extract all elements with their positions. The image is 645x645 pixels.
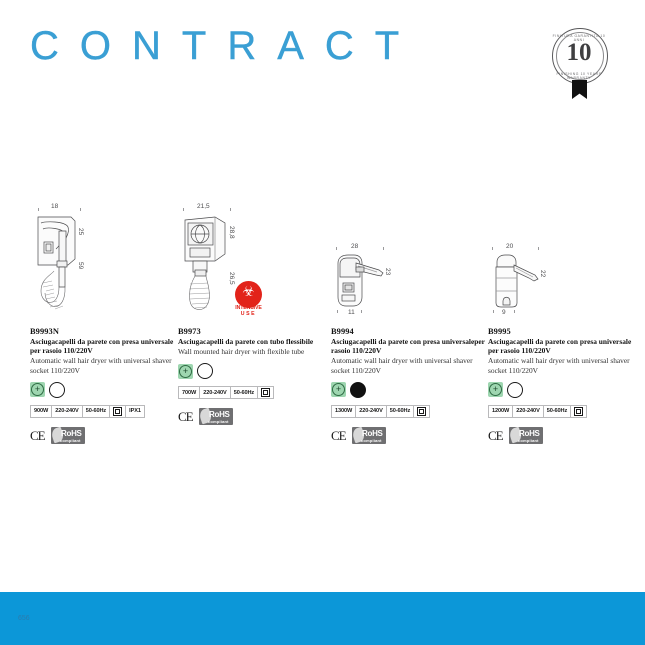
plus-icon: + [332, 383, 345, 396]
ribbon-icon [572, 80, 587, 99]
seal-number: 10 [548, 40, 610, 65]
add-option-button[interactable]: + [30, 382, 45, 397]
rohs-subtitle: compliant [60, 438, 81, 443]
certification-marks: CE RoHS compliant [30, 427, 180, 447]
spec-frequency: 50-60Hz [83, 406, 110, 417]
product-description-it: Asciugacapelli da parete con tubo flessi… [178, 337, 328, 346]
dimension-depth: 9 [502, 309, 506, 316]
rohs-title: RoHS [362, 429, 383, 438]
rohs-title: RoHS [519, 429, 540, 438]
hair-dryer-sketch [35, 213, 83, 323]
plus-icon: + [179, 365, 192, 378]
product-description-it: Asciugacapelli da parete con presa unive… [488, 337, 638, 355]
spec-frequency: 50-60Hz [544, 406, 571, 417]
product-code: B9993N [30, 327, 180, 336]
spec-power: 1200W [489, 406, 513, 417]
spec-power: 900W [31, 406, 52, 417]
spec-voltage: 220-240V [52, 406, 82, 417]
spec-bar: 1200W 220-240V 50-60Hz [488, 405, 587, 418]
spec-power: 1300W [332, 406, 356, 417]
add-option-button[interactable]: + [178, 364, 193, 379]
dimension-depth: 11 [348, 309, 355, 316]
catalog-page: CONTRACT FINITURA GARANTITA 10 ANNI 10 F… [0, 0, 645, 645]
color-swatch-white[interactable] [197, 363, 213, 379]
spec-ip-rating: IPX1 [126, 406, 144, 417]
rohs-title: RoHS [209, 410, 230, 419]
rohs-subtitle: compliant [208, 419, 229, 424]
intensive-use-circle: ☣ [235, 281, 262, 308]
spec-voltage: 220-240V [513, 406, 543, 417]
product-description-en: Wall mounted hair dryer with flexible tu… [178, 347, 328, 356]
hair-dryer-sketch [334, 253, 388, 309]
product-description-en: Automatic wall hair dryer with universal… [331, 356, 486, 374]
intensive-use-label-2: USE [232, 311, 265, 317]
spec-frequency: 50-60Hz [387, 406, 414, 417]
class-2-icon [571, 406, 586, 417]
class-2-icon [258, 387, 273, 398]
dimension-width: 20 [506, 243, 513, 250]
product-description-en: Automatic wall hair dryer with universal… [30, 356, 180, 374]
product-description-it: Asciugacapelli da parete con presa unive… [30, 337, 180, 355]
product-card: 18 25 59 [30, 200, 180, 447]
page-number: 656 [18, 615, 30, 622]
rohs-subtitle: compliant [518, 438, 539, 443]
color-options: + [178, 363, 328, 379]
dimension-width: 18 [51, 203, 58, 210]
color-swatch-white[interactable] [49, 382, 65, 398]
hand-tool-icon: ☣ [235, 284, 262, 298]
dimension-width: 28 [351, 243, 358, 250]
certification-marks: CE RoHS compliant [178, 408, 328, 428]
plus-icon: + [489, 383, 502, 396]
color-options: + [488, 382, 638, 398]
hair-dryer-sketch [491, 253, 543, 309]
product-drawing: 18 25 59 [30, 200, 180, 325]
rohs-subtitle: compliant [361, 438, 382, 443]
ce-mark-icon: CE [488, 428, 503, 444]
product-description-en: Automatic wall hair dryer with universal… [488, 356, 638, 374]
rohs-badge-icon: RoHS compliant [199, 408, 233, 425]
rohs-badge-icon: RoHS compliant [51, 427, 85, 444]
page-title: CONTRACT [30, 26, 420, 66]
color-swatch-white[interactable] [507, 382, 523, 398]
spec-bar: 1300W 220-240V 50-60Hz [331, 405, 430, 418]
product-description-it: Asciugacapelli da parete con presa unive… [331, 337, 486, 355]
class-2-icon [414, 406, 429, 417]
certification-marks: CE RoHS compliant [488, 427, 638, 447]
product-card: 28 23 11 B9994 Asciugacapelli da parete [331, 200, 486, 447]
spec-voltage: 220-240V [356, 406, 386, 417]
product-card: 20 22 9 B9995 Asciugacapelli da parete c… [488, 200, 638, 447]
product-code: B9973 [178, 327, 328, 336]
spec-power: 700W [179, 387, 200, 398]
class-2-icon [110, 406, 126, 417]
rohs-title: RoHS [61, 429, 82, 438]
product-code: B9994 [331, 327, 486, 336]
color-swatch-black[interactable] [350, 382, 366, 398]
spec-bar: 900W 220-240V 50-60Hz IPX1 [30, 405, 145, 418]
add-option-button[interactable]: + [488, 382, 503, 397]
add-option-button[interactable]: + [331, 382, 346, 397]
intensive-use-badge: ☣ INTENSIVE USE [232, 281, 265, 316]
spec-frequency: 50-60Hz [231, 387, 258, 398]
color-options: + [30, 382, 180, 398]
product-code: B9995 [488, 327, 638, 336]
seal-arc-bottom-text: FINISHING 10 YEARS WARRANTY [548, 72, 610, 80]
certification-marks: CE RoHS compliant [331, 427, 486, 447]
warranty-seal-badge: FINITURA GARANTITA 10 ANNI 10 FINISHING … [548, 28, 610, 98]
product-drawing: 20 22 9 [488, 200, 638, 325]
ce-mark-icon: CE [331, 428, 346, 444]
ce-mark-icon: CE [178, 409, 193, 425]
dimension-width: 21,5 [197, 203, 210, 210]
ce-mark-icon: CE [30, 428, 45, 444]
product-drawing: 28 23 11 [331, 200, 486, 325]
rohs-badge-icon: RoHS compliant [509, 427, 543, 444]
color-options: + [331, 382, 486, 398]
spec-voltage: 220-240V [200, 387, 230, 398]
spec-bar: 700W 220-240V 50-60Hz [178, 386, 274, 399]
footer-band [0, 592, 645, 645]
rohs-badge-icon: RoHS compliant [352, 427, 386, 444]
plus-icon: + [31, 383, 44, 396]
hair-dryer-sketch [181, 214, 231, 322]
